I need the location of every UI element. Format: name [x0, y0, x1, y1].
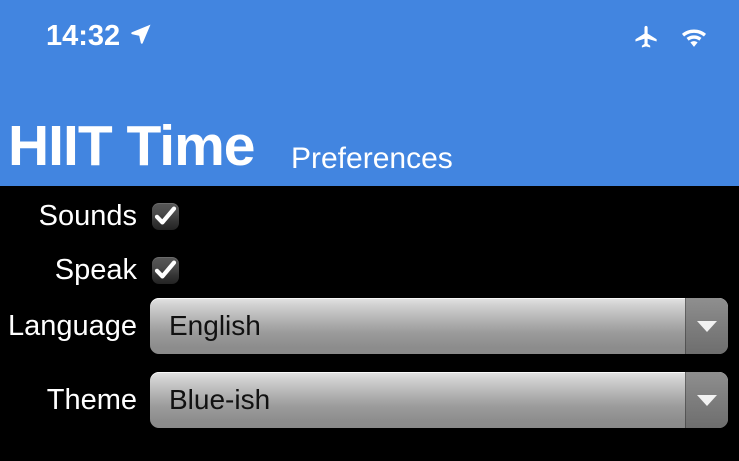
- label-theme: Theme: [0, 384, 137, 416]
- speak-checkbox[interactable]: [152, 257, 179, 284]
- location-arrow-icon: [129, 22, 153, 51]
- preferences-form: Sounds Speak Language: [0, 186, 739, 461]
- label-language: Language: [0, 310, 137, 342]
- status-bar-left: 14:32: [46, 21, 153, 51]
- language-select[interactable]: English: [150, 298, 728, 354]
- label-sounds: Sounds: [0, 200, 137, 232]
- chevron-down-icon: [697, 321, 717, 332]
- preference-row-sounds: Sounds: [0, 193, 739, 239]
- theme-select[interactable]: Blue-ish: [150, 372, 728, 428]
- status-bar: 14:32: [0, 0, 739, 64]
- preference-row-theme: Theme Blue-ish: [0, 372, 739, 428]
- chevron-down-icon: [697, 395, 717, 406]
- theme-select-value: Blue-ish: [169, 372, 270, 428]
- page-title: Preferences: [291, 143, 453, 174]
- preference-row-speak: Speak: [0, 247, 739, 293]
- status-clock: 14:32: [46, 21, 120, 51]
- label-speak: Speak: [0, 254, 137, 286]
- language-select-arrow-button[interactable]: [685, 298, 728, 354]
- airplane-mode-icon: [633, 24, 660, 56]
- language-select-value: English: [169, 298, 261, 354]
- app-screen: 14:32: [0, 0, 739, 461]
- theme-select-arrow-button[interactable]: [685, 372, 728, 428]
- app-title: HIIT Time: [8, 117, 255, 175]
- app-header: 14:32: [0, 0, 739, 186]
- wifi-icon: [680, 23, 708, 56]
- preference-row-language: Language English: [0, 298, 739, 354]
- sounds-checkbox[interactable]: [152, 203, 179, 230]
- status-bar-right: [633, 23, 708, 56]
